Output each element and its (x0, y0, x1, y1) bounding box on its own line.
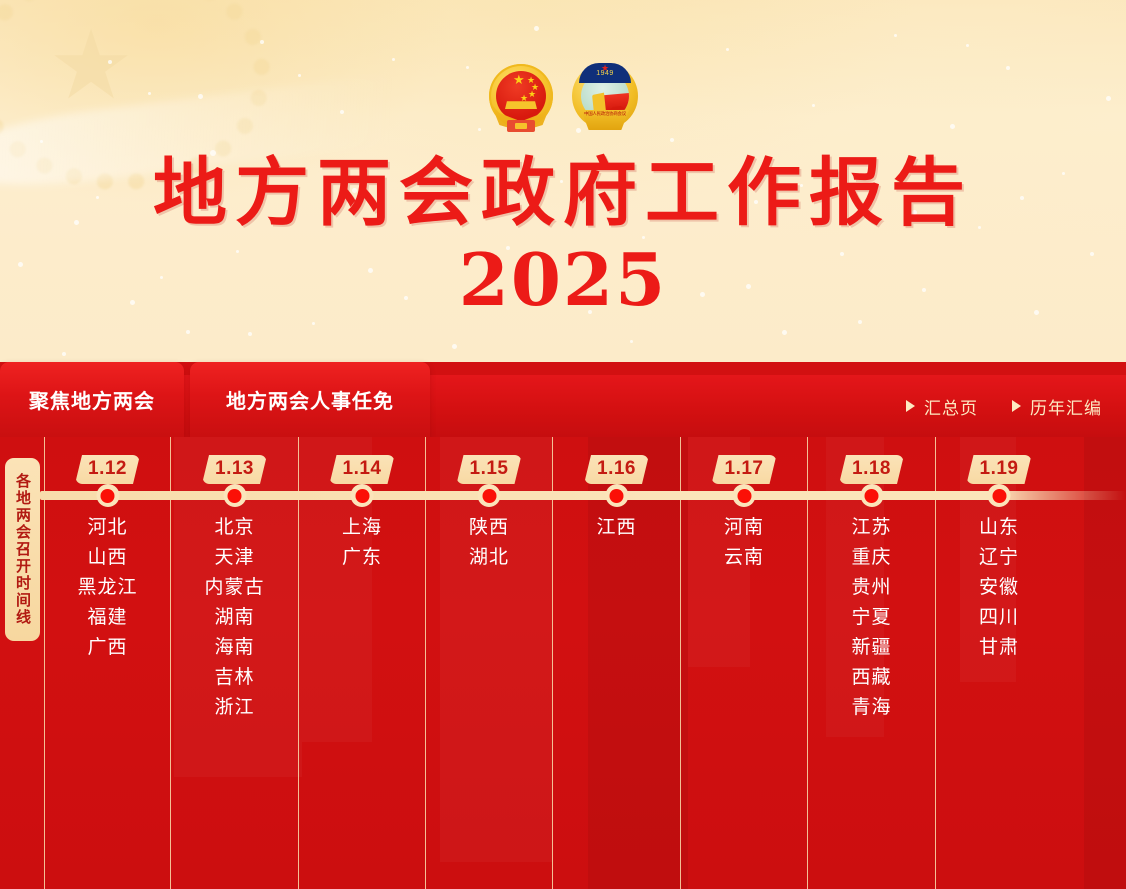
timeline-dot-marker (223, 484, 246, 507)
province-item[interactable]: 河南 (681, 513, 807, 543)
timeline-column: 1.16江西 (552, 437, 680, 889)
timeline-dot-marker (351, 484, 374, 507)
tab-label: 地方两会人事任免 (226, 385, 394, 414)
timeline-column: 1.14上海广东 (298, 437, 425, 889)
triangle-right-icon (906, 400, 915, 412)
province-item[interactable]: 湖北 (426, 543, 552, 573)
province-item[interactable]: 辽宁 (936, 543, 1062, 573)
province-list: 山东辽宁安徽四川甘肃 (936, 513, 1062, 663)
timeline-dot-marker (860, 484, 883, 507)
tab-bar: 聚焦地方两会 地方两会人事任免 (0, 362, 430, 437)
province-list: 陕西湖北 (426, 513, 552, 573)
province-item[interactable]: 山西 (45, 543, 170, 573)
province-item[interactable]: 广西 (45, 633, 170, 663)
hero-banner: ★ ★ ★ ★ ★ ★ 地方两会政府 (0, 0, 1126, 362)
timeline-dot-marker (988, 484, 1011, 507)
province-list: 河南云南 (681, 513, 807, 573)
province-item[interactable]: 宁夏 (808, 603, 935, 633)
province-item[interactable]: 四川 (936, 603, 1062, 633)
national-emblem-icon: ★ ★ ★ ★ ★ (485, 60, 557, 140)
timeline-column: 1.15陕西湖北 (425, 437, 552, 889)
province-item[interactable]: 云南 (681, 543, 807, 573)
province-list: 北京天津内蒙古湖南海南吉林浙江 (171, 513, 298, 723)
page-root: ★ ★ ★ ★ ★ ★ 地方两会政府 (0, 0, 1126, 889)
cppcc-emblem-icon: ★ (569, 60, 641, 140)
province-item[interactable]: 广东 (299, 543, 425, 573)
page-title-year: 2025 (0, 240, 1126, 320)
timeline-column: 1.17河南云南 (680, 437, 807, 889)
province-list: 河北山西黑龙江福建广西 (45, 513, 170, 663)
province-item[interactable]: 海南 (171, 633, 298, 663)
timeline-dot-marker (605, 484, 628, 507)
timeline-date-badge[interactable]: 1.19 (967, 455, 1032, 484)
province-item[interactable]: 河北 (45, 513, 170, 543)
timeline-column: 1.19山东辽宁安徽四川甘肃 (935, 437, 1062, 889)
province-item[interactable]: 安徽 (936, 573, 1062, 603)
timeline-date-badge[interactable]: 1.16 (584, 455, 649, 484)
timeline-date-badge[interactable]: 1.13 (202, 455, 267, 484)
timeline-dot-marker (733, 484, 756, 507)
province-item[interactable]: 甘肃 (936, 633, 1062, 663)
timeline-date-badge[interactable]: 1.15 (457, 455, 522, 484)
tab-personnel-appointments[interactable]: 地方两会人事任免 (190, 362, 430, 437)
province-item[interactable]: 福建 (45, 603, 170, 633)
timeline-section: 各地两会召开时间线 1.12河北山西黑龙江福建广西1.13北京天津内蒙古湖南海南… (0, 437, 1126, 889)
timeline-column: 1.18江苏重庆贵州宁夏新疆西藏青海 (807, 437, 935, 889)
nav-link-yearly-compilation[interactable]: 历年汇编 (1012, 394, 1102, 419)
province-item[interactable]: 内蒙古 (171, 573, 298, 603)
triangle-right-icon (1012, 400, 1021, 412)
emblem-group: ★ ★ ★ ★ ★ ★ (0, 57, 1126, 143)
page-title: 地方两会政府工作报告 (0, 150, 1126, 236)
timeline-dot-marker (478, 484, 501, 507)
timeline-side-label: 各地两会召开时间线 (5, 458, 40, 641)
province-item[interactable]: 江西 (553, 513, 680, 543)
province-item[interactable]: 黑龙江 (45, 573, 170, 603)
timeline-date-badge[interactable]: 1.14 (330, 455, 395, 484)
tab-label: 聚焦地方两会 (29, 385, 155, 414)
side-label-text: 各地两会召开时间线 (13, 473, 32, 626)
nav-link-label: 汇总页 (924, 394, 978, 419)
province-list: 上海广东 (299, 513, 425, 573)
nav-link-label: 历年汇编 (1030, 394, 1102, 419)
province-item[interactable]: 贵州 (808, 573, 935, 603)
province-item[interactable]: 天津 (171, 543, 298, 573)
timeline-column: 1.13北京天津内蒙古湖南海南吉林浙江 (170, 437, 298, 889)
province-item[interactable]: 山东 (936, 513, 1062, 543)
province-item[interactable]: 重庆 (808, 543, 935, 573)
province-item[interactable]: 西藏 (808, 663, 935, 693)
province-item[interactable]: 青海 (808, 693, 935, 723)
timeline-date-badge[interactable]: 1.18 (839, 455, 904, 484)
province-item[interactable]: 吉林 (171, 663, 298, 693)
timeline-dot-marker (96, 484, 119, 507)
decor-panel (1084, 437, 1126, 889)
timeline-date-badge[interactable]: 1.17 (712, 455, 777, 484)
province-item[interactable]: 上海 (299, 513, 425, 543)
timeline-column: 1.12河北山西黑龙江福建广西 (44, 437, 170, 889)
province-item[interactable]: 新疆 (808, 633, 935, 663)
province-item[interactable]: 湖南 (171, 603, 298, 633)
timeline-rail (40, 491, 1126, 500)
tab-focus-local-two-sessions[interactable]: 聚焦地方两会 (0, 362, 184, 437)
nav-links: 汇总页 历年汇编 (906, 375, 1102, 437)
timeline-date-badge[interactable]: 1.12 (75, 455, 140, 484)
nav-link-summary-page[interactable]: 汇总页 (906, 394, 978, 419)
province-item[interactable]: 浙江 (171, 693, 298, 723)
province-item[interactable]: 北京 (171, 513, 298, 543)
province-list: 江苏重庆贵州宁夏新疆西藏青海 (808, 513, 935, 723)
province-list: 江西 (553, 513, 680, 543)
province-item[interactable]: 江苏 (808, 513, 935, 543)
province-item[interactable]: 陕西 (426, 513, 552, 543)
